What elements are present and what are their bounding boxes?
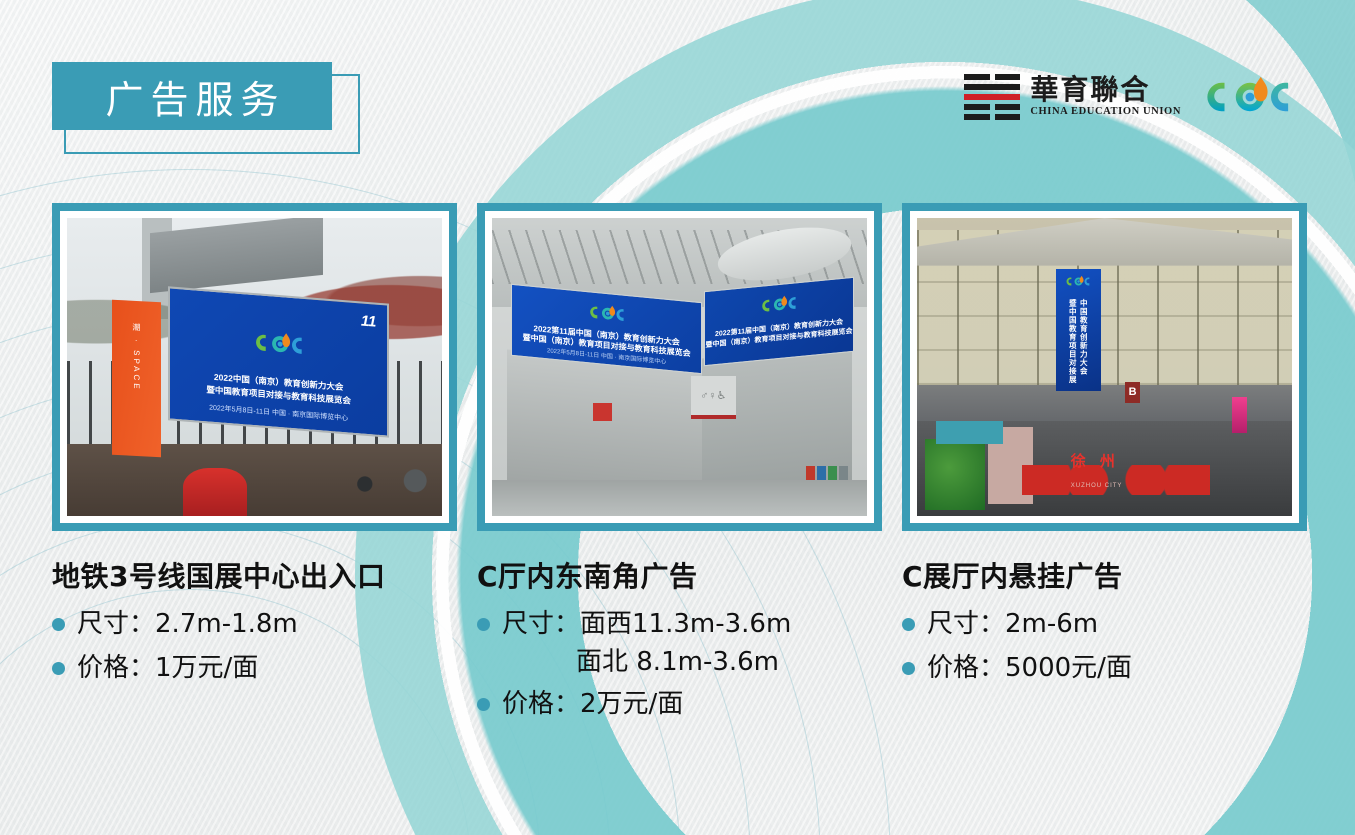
brand-logos: 華育聯合 CHINA EDUCATION UNION [964,74,1297,120]
photo3-booth-sign-sub: XUZHOU CITY [1071,483,1123,489]
photo-frame-2: 2022第11届中国（南京）教育创新力大会 暨中国（南京）教育项目对接与教育科技… [477,203,882,531]
bullet-label: 尺寸： [927,609,1005,639]
card-title-3: C展厅内悬挂广告 [902,555,1307,595]
cdc-logo-icon [1199,74,1297,120]
bullet-value: 5000元/面 [1005,653,1132,683]
photo1-vertical-text: 潮 · SPACE [131,323,142,392]
bullet-dot-icon [902,662,915,675]
cdc-logo-icon [247,329,311,360]
photo1-board-line3: 2022年5月8日-11日 中国 · 南京国际博览中心 [209,403,348,424]
photo1-billboard: 11 2022中国（南京）教育创新力大会 暨中国教育项目对接与教育科技展览会 2… [168,287,389,439]
photo1-edition-badge: 11 [361,313,377,331]
card-bullets-3: 尺寸：2m-6m 价格：5000元/面 [902,607,1307,687]
bullet-dot-icon [902,618,915,631]
photo-hall-c-corner-led: 2022第11届中国（南京）教育创新力大会 暨中国（南京）教育项目对接与教育科技… [492,218,867,516]
bullet-dot-icon [52,618,65,631]
photo3-hall-marker: B [1125,382,1140,403]
advertisement-columns: 潮 · SPACE 11 2022中国（南京）教育创新力大会 [52,203,1307,731]
photo-frame-3: 中国教育创新力大会 暨中国教育项目对接展 B 徐 州 XUZHOU CITY [902,203,1307,531]
advertisement-card-3: 中国教育创新力大会 暨中国教育项目对接展 B 徐 州 XUZHOU CITY [902,203,1307,731]
bullet-value: 2.7m-1.8m [155,609,298,639]
photo-frame-1: 潮 · SPACE 11 2022中国（南京）教育创新力大会 [52,203,457,531]
bullet-extra-line: 面北 8.1m-3.6m [576,645,882,681]
page-title: 广告服务 [98,69,285,124]
bullet-dot-icon [477,618,490,631]
photo2-panel-right: 2022第11届中国（南京）教育创新力大会 暨中国（南京）教育项目对接与教育科技… [704,276,854,365]
trigram-mark-icon [964,74,1020,120]
bullet-label: 尺寸： [77,609,155,639]
brand-name-cn: 華育聯合 [1030,76,1181,104]
card-title-1: 地铁3号线国展中心出入口 [52,555,457,595]
bullet-dot-icon [52,662,65,675]
bullet-item: 尺寸：2m-6m [902,607,1307,643]
cdc-logo-icon [1063,275,1093,288]
bullet-label: 价格： [927,653,1005,683]
advertisement-card-1: 潮 · SPACE 11 2022中国（南京）教育创新力大会 [52,203,457,731]
bullet-value: 2m-6m [1005,609,1098,639]
bullet-item: 尺寸：2.7m-1.8m [52,607,457,643]
bullet-item: 价格：1万元/面 [52,651,457,687]
bullet-item: 价格：2万元/面 [477,687,882,723]
photo2-recycle-bins [806,466,848,480]
china-education-union-logo: 華育聯合 CHINA EDUCATION UNION [964,74,1181,120]
brand-name-en: CHINA EDUCATION UNION [1030,107,1181,118]
page-title-box: 广告服务 [52,62,332,130]
photo-subway-entrance-billboard: 潮 · SPACE 11 2022中国（南京）教育创新力大会 [67,218,442,516]
photo3-booth-sign: 徐 州 [1071,450,1120,471]
page-title-block: 广告服务 [52,62,352,152]
bullet-dot-icon [477,698,490,711]
cdc-logo-icon [756,292,802,315]
card-bullets-1: 尺寸：2.7m-1.8m 价格：1万元/面 [52,607,457,687]
restroom-pictogram-icon: ♂♀♿ [691,376,736,419]
photo3-banner-text: 中国教育创新力大会 暨中国教育项目对接展 [1067,299,1089,385]
card-bullets-2: 尺寸：面西11.3m-3.6m 面北 8.1m-3.6m 价格：2万元/面 [477,607,882,723]
cdc-logo-icon [583,301,629,324]
advertisement-card-2: 2022第11届中国（南京）教育创新力大会 暨中国（南京）教育项目对接与教育科技… [477,203,882,731]
slide-root: 广告服务 華育聯合 CHINA EDUCATION UNION [0,0,1355,835]
photo3-hanging-banner: 中国教育创新力大会 暨中国教育项目对接展 [1056,269,1101,391]
bullet-item: 价格：5000元/面 [902,651,1307,687]
photo-hall-c-hanging-banner: 中国教育创新力大会 暨中国教育项目对接展 B 徐 州 XUZHOU CITY [917,218,1292,516]
card-title-2: C厅内东南角广告 [477,555,882,595]
bullet-label: 尺寸： [502,609,580,639]
bullet-value: 面西11.3m-3.6m [580,609,791,639]
bullet-label: 价格： [77,653,155,683]
bullet-label: 价格： [502,689,580,719]
bullet-item: 尺寸：面西11.3m-3.6m [477,607,882,643]
bullet-value: 1万元/面 [155,653,258,683]
bullet-value: 2万元/面 [580,689,683,719]
